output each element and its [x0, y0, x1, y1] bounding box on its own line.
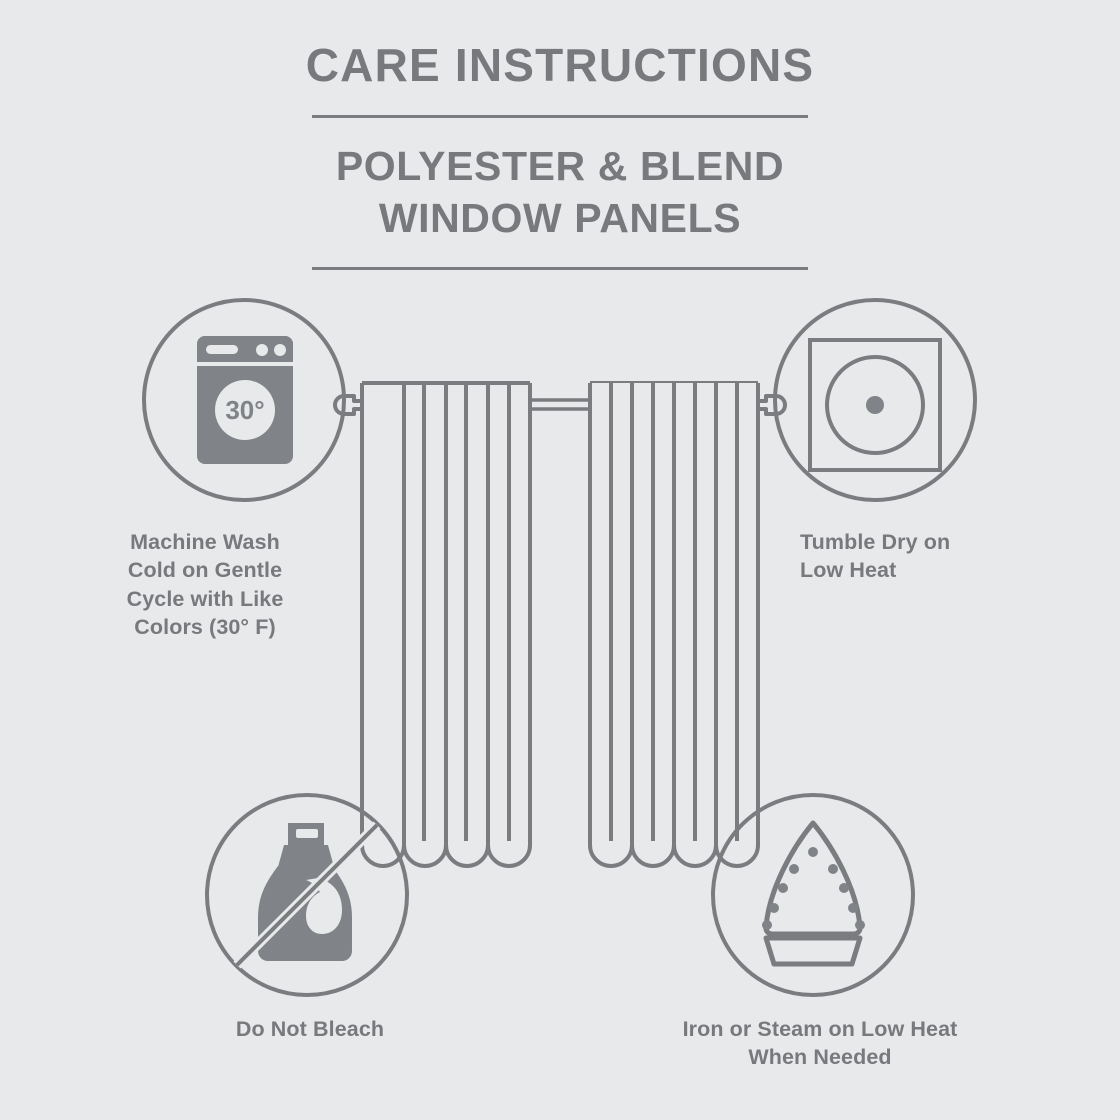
caption-machine-wash-line-3: Cycle with Like — [127, 587, 284, 611]
caption-iron-line-2: When Needed — [748, 1045, 891, 1069]
caption-machine-wash-line-4: Colors (30° F) — [134, 615, 275, 639]
washing-machine-icon: 30° — [197, 336, 293, 464]
caption-do-not-bleach-line-1: Do Not Bleach — [236, 1017, 384, 1041]
caption-machine-wash: Machine Wash Cold on Gentle Cycle with L… — [77, 528, 333, 642]
caption-iron-line-1: Iron or Steam on Low Heat — [683, 1017, 958, 1041]
curtain-rod-bar — [527, 400, 593, 409]
curtain-rod-right-finial — [752, 396, 785, 414]
iron-circle — [713, 795, 913, 995]
tumble-dry-low-icon — [810, 340, 940, 470]
do-not-bleach-circle — [207, 795, 407, 995]
page-subtitle: POLYESTER & BLEND WINDOW PANELS — [0, 118, 1120, 245]
no-bleach-icon — [237, 823, 377, 965]
curtain-rod-left-finial — [335, 396, 368, 414]
symbol-tumble-dry — [775, 300, 975, 500]
curtain-panel-left — [362, 383, 530, 866]
caption-tumble-dry: Tumble Dry on Low Heat — [800, 528, 1050, 585]
symbol-iron — [713, 795, 913, 995]
care-instructions-infographic: CARE INSTRUCTIONS POLYESTER & BLEND WIND… — [0, 0, 1120, 1120]
caption-iron: Iron or Steam on Low Heat When Needed — [618, 1015, 1022, 1072]
page-title: CARE INSTRUCTIONS — [0, 0, 1120, 91]
curtain-panel-right — [590, 383, 758, 866]
iron-icon — [762, 823, 865, 964]
machine-wash-circle — [144, 300, 344, 500]
caption-tumble-dry-line-1: Tumble Dry on — [800, 530, 950, 554]
machine-wash-temperature: 30° — [225, 395, 264, 425]
symbol-machine-wash: 30° — [144, 300, 344, 500]
caption-tumble-dry-line-2: Low Heat — [800, 558, 896, 582]
symbol-do-not-bleach — [207, 795, 407, 995]
header: CARE INSTRUCTIONS POLYESTER & BLEND WIND… — [0, 0, 1120, 270]
curtain-illustration — [335, 383, 785, 866]
subtitle-line-2: WINDOW PANELS — [379, 195, 741, 241]
caption-machine-wash-line-2: Cold on Gentle — [128, 558, 282, 582]
tumble-dry-circle — [775, 300, 975, 500]
subtitle-line-1: POLYESTER & BLEND — [336, 143, 784, 189]
title-divider-bottom — [312, 267, 808, 270]
caption-do-not-bleach: Do Not Bleach — [180, 1015, 440, 1043]
caption-machine-wash-line-1: Machine Wash — [130, 530, 280, 554]
